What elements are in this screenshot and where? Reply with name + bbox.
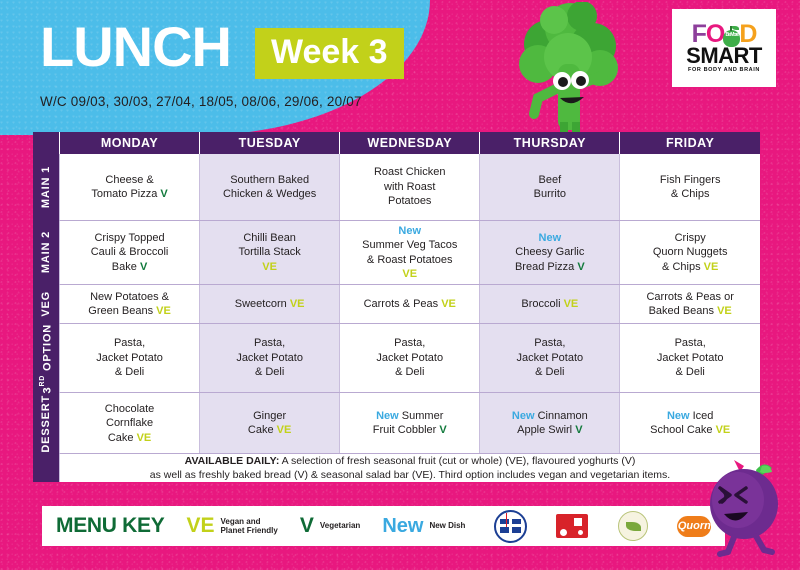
menu-cell: Crispy ToppedCauli & BroccoliBake V — [60, 221, 200, 285]
menu-cell: Pasta,Jacket Potato& Deli — [200, 324, 340, 393]
available-daily-row: AVAILABLE DAILY: A selection of fresh se… — [33, 454, 760, 483]
row-label-veg: VEG — [33, 285, 60, 324]
key-symbol-ve: VE — [186, 514, 214, 538]
apple-icon: Be More — [723, 30, 740, 47]
menu-cell: NewSummer Veg Tacos& Roast PotatoesVE — [340, 221, 480, 285]
logo-tagline: FOR BODY AND BRAIN — [686, 68, 762, 74]
menu-cell: ChocolateCornflakeCake VE — [60, 393, 200, 454]
table-row: MAIN 1Cheese &Tomato Pizza VSouthern Bak… — [33, 154, 760, 221]
certification-bar: Quorn — [480, 506, 725, 546]
menu-cell: Broccoli VE — [480, 285, 620, 324]
menu-cell: Pasta,Jacket Potato& Deli — [340, 324, 480, 393]
key-item-ve: VE Vegan andPlanet Friendly — [186, 514, 277, 538]
menu-cell: Chilli BeanTortilla StackVE — [200, 221, 340, 285]
table-row: MAIN 2Crispy ToppedCauli & BroccoliBake … — [33, 221, 760, 285]
menu-cell: Fish Fingers& Chips — [620, 154, 760, 221]
menu-cell: Carrots & Peas orBaked Beans VE — [620, 285, 760, 324]
row-label-dessert: DESSERT — [33, 393, 60, 454]
red-tractor-union-jack-badge-icon — [494, 511, 528, 541]
corner-cell — [33, 132, 60, 154]
food-smart-logo: FOBe MoreD SMART FOR BODY AND BRAIN — [672, 9, 776, 87]
key-desc-v: Vegetarian — [320, 521, 360, 531]
menu-cell: Cheese &Tomato Pizza V — [60, 154, 200, 221]
menu-cell: Pasta,Jacket Potato& Deli — [60, 324, 200, 393]
menu-cell: Sweetcorn VE — [200, 285, 340, 324]
table-row: VEGNew Potatoes &Green Beans VESweetcorn… — [33, 285, 760, 324]
menu-cell: BeefBurrito — [480, 154, 620, 221]
week-commencing-dates: W/C 09/03, 30/03, 27/04, 18/05, 08/06, 2… — [40, 94, 362, 109]
available-daily-stub — [33, 454, 60, 483]
logo-letter-d: D — [739, 20, 756, 48]
page-title: LUNCH — [40, 18, 231, 76]
key-item-new: New New Dish — [382, 515, 465, 538]
day-header-monday: MONDAY — [60, 132, 200, 154]
menu-table: MONDAY TUESDAY WEDNESDAY THURSDAY FRIDAY… — [33, 132, 760, 482]
menu-table-body: MAIN 1Cheese &Tomato Pizza VSouthern Bak… — [33, 154, 760, 482]
day-header-friday: FRIDAY — [620, 132, 760, 154]
beetroot-mascot-icon — [700, 452, 788, 557]
menu-cell: New SummerFruit Cobbler V — [340, 393, 480, 454]
menu-cell: GingerCake VE — [200, 393, 340, 454]
table-row: 3RD OPTIONPasta,Jacket Potato& DeliPasta… — [33, 324, 760, 393]
key-item-v: V Vegetarian — [300, 514, 360, 538]
key-symbol-new: New — [382, 515, 423, 538]
logo-letter-f: F — [692, 20, 706, 48]
logo-food-word: FOBe MoreD — [686, 22, 762, 47]
menu-cell: Roast Chickenwith RoastPotatoes — [340, 154, 480, 221]
day-header-tuesday: TUESDAY — [200, 132, 340, 154]
menu-cell: Carrots & Peas VE — [340, 285, 480, 324]
available-daily-note: AVAILABLE DAILY: A selection of fresh se… — [60, 454, 761, 483]
menu-cell: Pasta,Jacket Potato& Deli — [480, 324, 620, 393]
logo-smart-word: SMART — [686, 45, 762, 67]
menu-cell: CrispyQuorn Nuggets& Chips VE — [620, 221, 760, 285]
row-label-main-1: MAIN 1 — [33, 154, 60, 221]
header: LUNCH Week 3 W/C 09/03, 30/03, 27/04, 18… — [0, 0, 800, 132]
key-desc-new: New Dish — [429, 521, 465, 531]
broccoli-mascot-icon — [508, 2, 628, 135]
logo-letter-o: O — [706, 20, 724, 48]
menu-key-title: MENU KEY — [56, 514, 164, 538]
key-desc-ve: Vegan andPlanet Friendly — [220, 517, 277, 536]
table-row: DESSERTChocolateCornflakeCake VEGingerCa… — [33, 393, 760, 454]
red-tractor-logo-icon — [555, 511, 589, 541]
menu-cell: NewCheesy GarlicBread Pizza V — [480, 221, 620, 285]
menu-key-bar: MENU KEY VE Vegan andPlanet Friendly V V… — [42, 506, 486, 546]
row-label-3rd-option: 3RD OPTION — [33, 324, 60, 393]
table-header-row: MONDAY TUESDAY WEDNESDAY THURSDAY FRIDAY — [33, 132, 760, 154]
menu-cell: Southern BakedChicken & Wedges — [200, 154, 340, 221]
menu-cell: New Potatoes &Green Beans VE — [60, 285, 200, 324]
menu-cell: New CinnamonApple Swirl V — [480, 393, 620, 454]
menu-cell: New IcedSchool Cake VE — [620, 393, 760, 454]
menu-cell: Pasta,Jacket Potato& Deli — [620, 324, 760, 393]
leaf-marque-badge-icon — [616, 511, 650, 541]
key-symbol-v: V — [300, 514, 314, 538]
row-label-main-2: MAIN 2 — [33, 221, 60, 285]
day-header-wednesday: WEDNESDAY — [340, 132, 480, 154]
logo-apple-text: Be More — [723, 33, 740, 39]
day-header-thursday: THURSDAY — [480, 132, 620, 154]
week-badge: Week 3 — [255, 28, 404, 79]
